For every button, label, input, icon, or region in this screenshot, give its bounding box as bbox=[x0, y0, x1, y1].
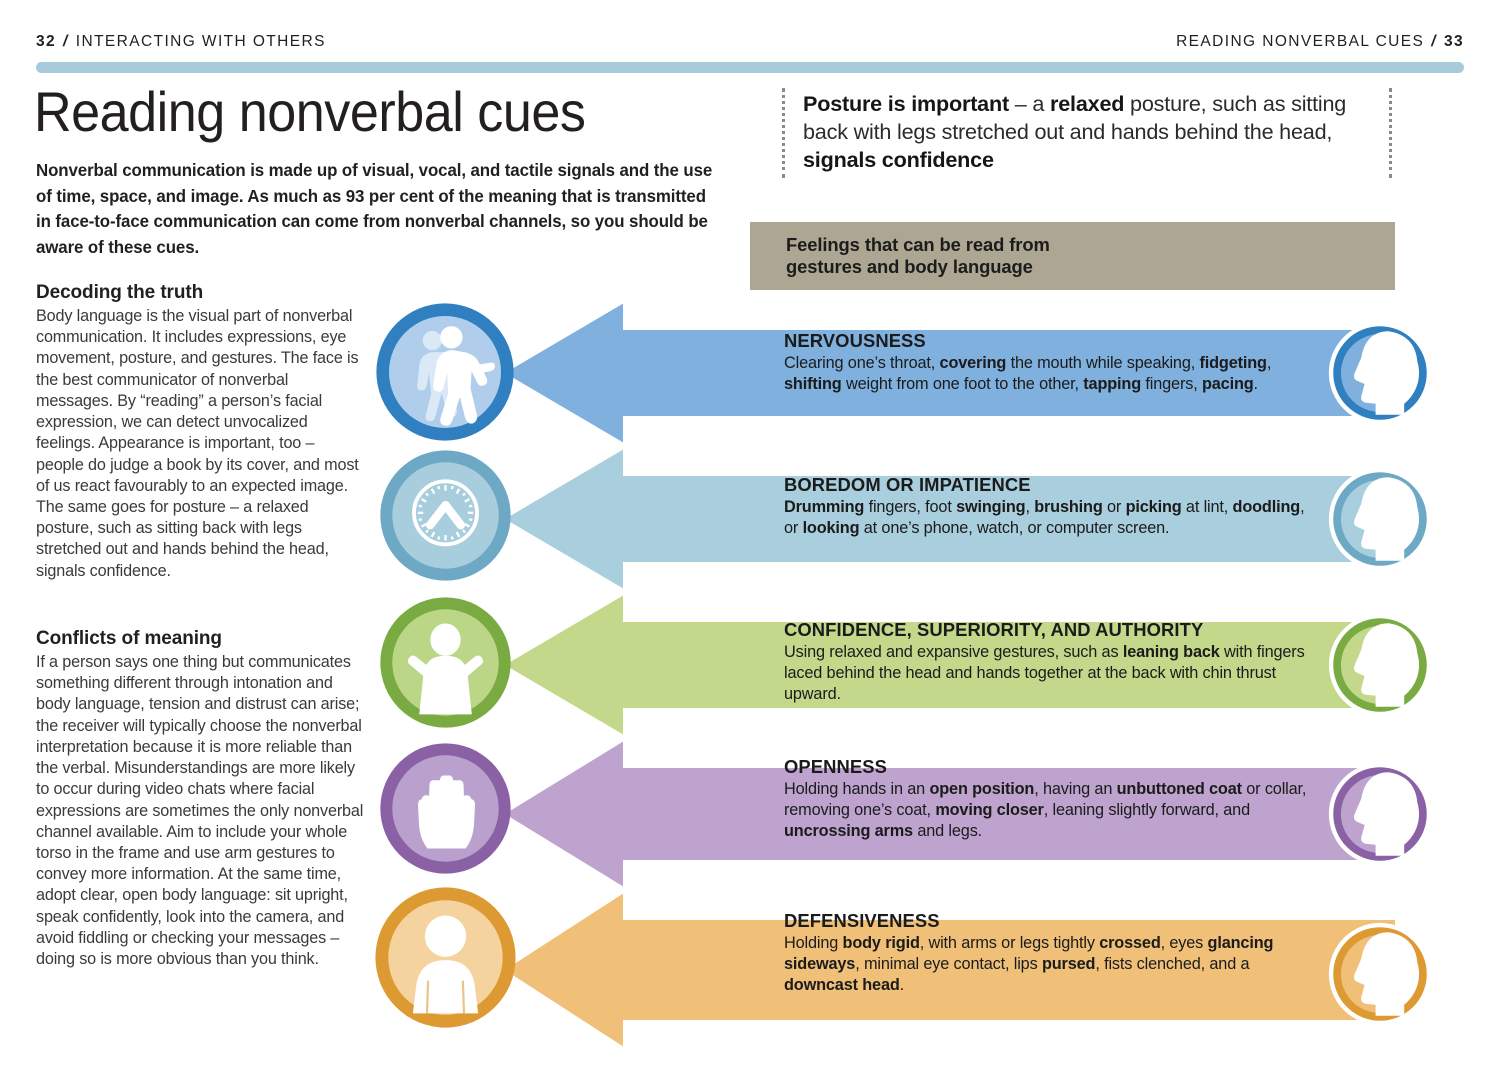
feelings-banner-text: Feelings that can be read from gestures … bbox=[750, 234, 1050, 279]
banner-line-1: Feelings that can be read from bbox=[786, 234, 1050, 255]
cue-heading: OPENNESS bbox=[784, 756, 1314, 778]
walking-figures-icon-medallion bbox=[375, 302, 515, 442]
pull-quote: Posture is important – a relaxed posture… bbox=[782, 88, 1392, 178]
cue-text-openness: OPENNESSHolding hands in an open positio… bbox=[784, 756, 1314, 843]
folio-right: 33 bbox=[1444, 33, 1464, 50]
head-profile-icon bbox=[1325, 318, 1435, 428]
cue-badge-confidence bbox=[379, 596, 512, 729]
cue-row-nervousness: NERVOUSNESSClearing one’s throat, coveri… bbox=[0, 300, 1500, 446]
cue-text-nervousness: NERVOUSNESSClearing one’s throat, coveri… bbox=[784, 330, 1314, 395]
cue-text-defensiveness: DEFENSIVENESSHolding body rigid, with ar… bbox=[784, 910, 1314, 997]
cue-body: Using relaxed and expansive gestures, su… bbox=[784, 642, 1314, 706]
cue-heading: NERVOUSNESS bbox=[784, 330, 1314, 352]
cue-badge-openness bbox=[379, 742, 512, 875]
cue-body: Holding hands in an open position, havin… bbox=[784, 779, 1314, 843]
banner-line-2: gestures and body language bbox=[786, 256, 1033, 277]
book-spread-page: 32/INTERACTING WITH OTHERS READING NONVE… bbox=[0, 0, 1500, 1072]
cue-head-confidence bbox=[1325, 610, 1435, 720]
slash-left: / bbox=[56, 33, 76, 50]
feelings-banner: Feelings that can be read from gestures … bbox=[750, 222, 1395, 290]
cue-body: Holding body rigid, with arms or legs ti… bbox=[784, 933, 1314, 997]
slash-right: / bbox=[1424, 33, 1444, 50]
cue-head-openness bbox=[1325, 759, 1435, 869]
person-icon-medallion bbox=[374, 886, 517, 1029]
clock-icon-medallion bbox=[379, 449, 512, 582]
running-head-right: READING NONVERBAL CUES/33 bbox=[1176, 33, 1464, 51]
pull-quote-lead: Posture is important bbox=[803, 91, 1009, 116]
cue-badge-boredom bbox=[379, 449, 512, 582]
chapter-label-left: INTERACTING WITH OTHERS bbox=[76, 33, 326, 50]
hands-behind-head-icon-medallion bbox=[379, 596, 512, 729]
cue-body: Drumming fingers, foot swinging, brushin… bbox=[784, 497, 1314, 539]
cue-row-boredom: BOREDOM OR IMPATIENCEDrumming fingers, f… bbox=[0, 446, 1500, 592]
head-profile-icon bbox=[1325, 919, 1435, 1029]
head-profile-icon bbox=[1325, 464, 1435, 574]
cue-badge-defensiveness bbox=[374, 886, 517, 1029]
head-profile-icon bbox=[1325, 610, 1435, 720]
cue-heading: BOREDOM OR IMPATIENCE bbox=[784, 474, 1314, 496]
page-title: Reading nonverbal cues bbox=[34, 84, 585, 140]
cue-heading: CONFIDENCE, SUPERIORITY, AND AUTHORITY bbox=[784, 619, 1314, 641]
cue-badge-nervousness bbox=[375, 302, 515, 442]
pull-quote-emph2: signals confidence bbox=[803, 147, 994, 172]
cue-row-defensiveness: DEFENSIVENESSHolding body rigid, with ar… bbox=[0, 890, 1500, 1050]
cue-head-nervousness bbox=[1325, 318, 1435, 428]
cue-row-openness: OPENNESSHolding hands in an open positio… bbox=[0, 738, 1500, 890]
header-rule bbox=[36, 62, 1464, 73]
cue-head-defensiveness bbox=[1325, 919, 1435, 1029]
running-head-left: 32/INTERACTING WITH OTHERS bbox=[36, 33, 326, 51]
cue-text-confidence: CONFIDENCE, SUPERIORITY, AND AUTHORITYUs… bbox=[784, 619, 1314, 706]
cue-text-boredom: BOREDOM OR IMPATIENCEDrumming fingers, f… bbox=[784, 474, 1314, 539]
cue-head-boredom bbox=[1325, 464, 1435, 574]
chapter-label-right: READING NONVERBAL CUES bbox=[1176, 33, 1424, 50]
cue-row-confidence: CONFIDENCE, SUPERIORITY, AND AUTHORITYUs… bbox=[0, 592, 1500, 738]
pull-quote-t2: – a bbox=[1009, 91, 1050, 116]
cue-body: Clearing one’s throat, covering the mout… bbox=[784, 353, 1314, 395]
intro-paragraph: Nonverbal communication is made up of vi… bbox=[36, 158, 715, 260]
folio-left: 32 bbox=[36, 33, 56, 50]
pull-quote-emph1: relaxed bbox=[1050, 91, 1124, 116]
open-hands-icon-medallion bbox=[379, 742, 512, 875]
cue-heading: DEFENSIVENESS bbox=[784, 910, 1314, 932]
head-profile-icon bbox=[1325, 759, 1435, 869]
